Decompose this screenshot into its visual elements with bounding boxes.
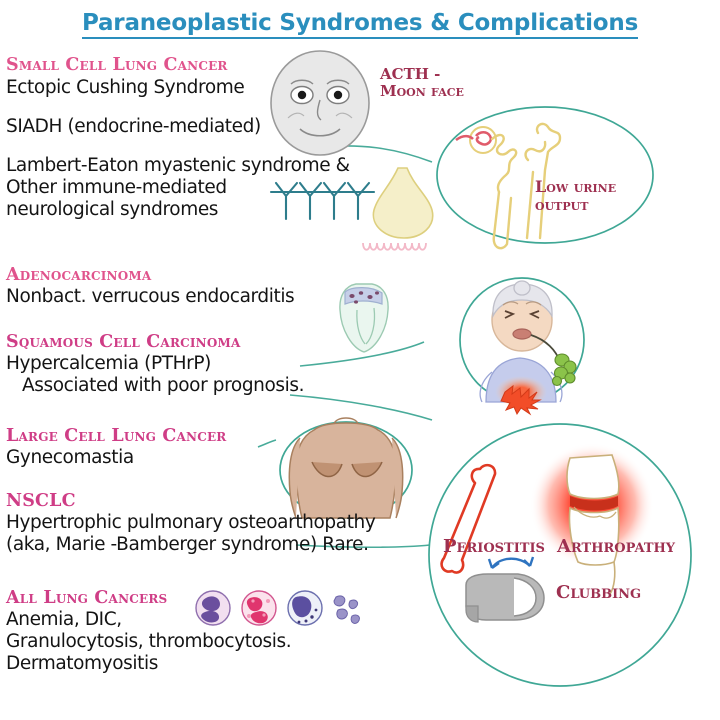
section-heading: Adenocarcinoma — [6, 266, 294, 286]
page-title-text: Paraneoplastic Syndromes & Complications — [82, 10, 638, 39]
section-squamous-cell-carcinoma: Squamous Cell Carcinoma Hypercalcemia (P… — [6, 333, 304, 397]
section-heading: All Lung Cancers — [6, 589, 291, 609]
section-line: (aka, Marie -Bamberger syndrome) Rare. — [6, 534, 375, 556]
clubbing-label: Clubbing — [556, 583, 641, 603]
section-line: Nonbact. verrucous endocarditis — [6, 286, 294, 308]
page-title: Paraneoplastic Syndromes & Complications — [0, 10, 720, 36]
arthropathy-label: Arthropathy — [557, 537, 675, 557]
section-line: Associated with poor prognosis. — [6, 375, 304, 397]
elderly-patient-illustration — [460, 278, 584, 414]
low-urine-label-line2: output — [535, 196, 616, 214]
section-heading: Large Cell Lung Cancer — [6, 427, 226, 447]
section-line: Ectopic Cushing Syndrome — [6, 77, 350, 99]
section-adenocarcinoma: Adenocarcinoma Nonbact. verrucous endoca… — [6, 266, 294, 308]
infographic-canvas: Paraneoplastic Syndromes & Complications… — [0, 0, 720, 720]
section-line: Dermatomyositis — [6, 653, 291, 675]
section-line: SIADH (endocrine-mediated) — [6, 116, 350, 138]
inflamed-knee-joint-illustration — [530, 443, 654, 594]
section-line: neurological syndromes — [6, 199, 350, 221]
section-line: Granulocytosis, thrombocytosis. — [6, 631, 291, 653]
low-urine-label-line1: Low urine — [535, 178, 616, 196]
section-line: Anemia, DIC, — [6, 609, 291, 631]
section-small-cell-lung-cancer: Small Cell Lung Cancer Ectopic Cushing S… — [6, 56, 350, 222]
heart-vegetations-illustration — [340, 284, 388, 352]
section-heading: Small Cell Lung Cancer — [6, 56, 350, 76]
section-line: Gynecomastia — [6, 447, 226, 469]
low-urine-output-label: Low urine output — [535, 178, 616, 214]
clubbed-finger-illustration — [466, 557, 544, 622]
acth-label-line1: ACTH - — [380, 66, 464, 83]
section-line: Other immune-mediated — [6, 177, 350, 199]
section-line: Hypertrophic pulmonary osteoarthopathy — [6, 512, 375, 534]
periostitis-label: Periostitis — [443, 537, 545, 557]
acth-moon-face-label: ACTH - Moon face — [380, 66, 464, 100]
section-line: Hypercalcemia (PTHrP) — [6, 353, 304, 375]
acth-label-line2: Moon face — [380, 83, 464, 100]
section-all-lung-cancers: All Lung Cancers Anemia, DIC, Granulocyt… — [6, 589, 291, 675]
section-large-cell-lung-cancer: Large Cell Lung Cancer Gynecomastia — [6, 427, 226, 469]
section-heading: NSCLC — [6, 492, 375, 512]
section-line: Lambert-Eaton myastenic syndrome & — [6, 155, 350, 177]
section-heading: Squamous Cell Carcinoma — [6, 333, 304, 353]
section-nsclc: NSCLC Hypertrophic pulmonary osteoarthop… — [6, 492, 375, 556]
